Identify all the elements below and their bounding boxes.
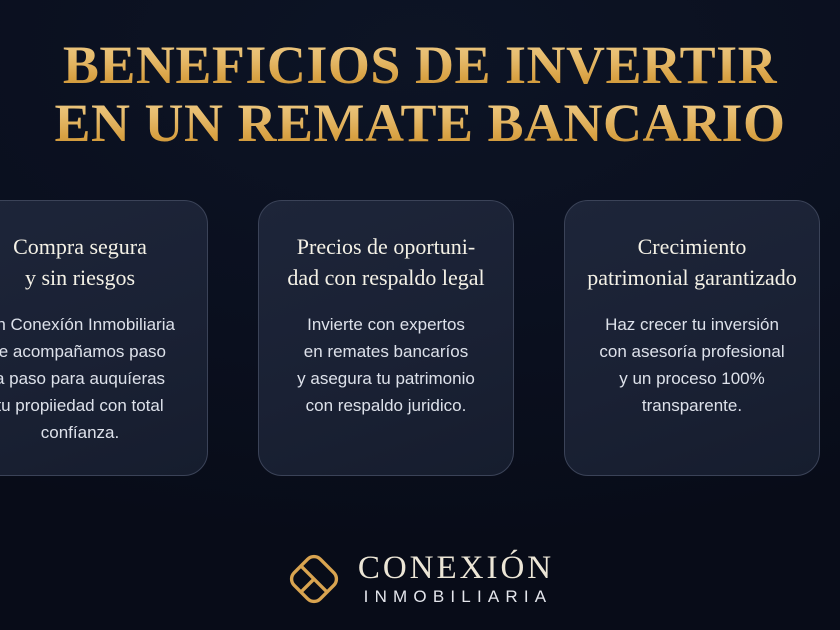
conexion-diamond-mark-icon — [286, 551, 342, 607]
brand-logo: CONEXIÓN INMOBILIARIA — [0, 550, 840, 608]
poster-title-line-1: BENEFICIOS DE INVERTIR — [0, 36, 840, 94]
benefit-card-precios-oportunidad: Precios de oportuni- dad con respaldo le… — [258, 200, 514, 476]
poster-title: BENEFICIOS DE INVERTIR EN UN REMATE BANC… — [0, 36, 840, 152]
brand-tagline: INMOBILIARIA — [358, 586, 554, 608]
benefit-card-heading: Crecimiento patrimonial garantizado — [579, 231, 805, 293]
poster-title-line-2: EN UN REMATE BANCARIO — [0, 94, 840, 152]
brand-wordmark: CONEXIÓN — [358, 550, 554, 586]
benefit-card-body: Haz crecer tu inversión con asesoría pro… — [579, 311, 805, 419]
benefit-card-body: En Conexíón Inmobiliaria te acompañamos … — [0, 311, 193, 446]
benefit-card-compra-segura: Compra segura y sin riesgos En Conexíón … — [0, 200, 208, 476]
benefit-card-heading: Precios de oportuni- dad con respaldo le… — [273, 231, 499, 293]
benefit-card-heading: Compra segura y sin riesgos — [0, 231, 193, 293]
brand-logo-text: CONEXIÓN INMOBILIARIA — [358, 550, 554, 608]
benefit-card-body: Invierte con expertos en remates bancarí… — [273, 311, 499, 419]
benefit-card-crecimiento-patrimonial: Crecimiento patrimonial garantizado Haz … — [564, 200, 820, 476]
benefits-card-row: Compra segura y sin riesgos En Conexíón … — [0, 200, 840, 476]
poster-canvas: BENEFICIOS DE INVERTIR EN UN REMATE BANC… — [0, 0, 840, 630]
